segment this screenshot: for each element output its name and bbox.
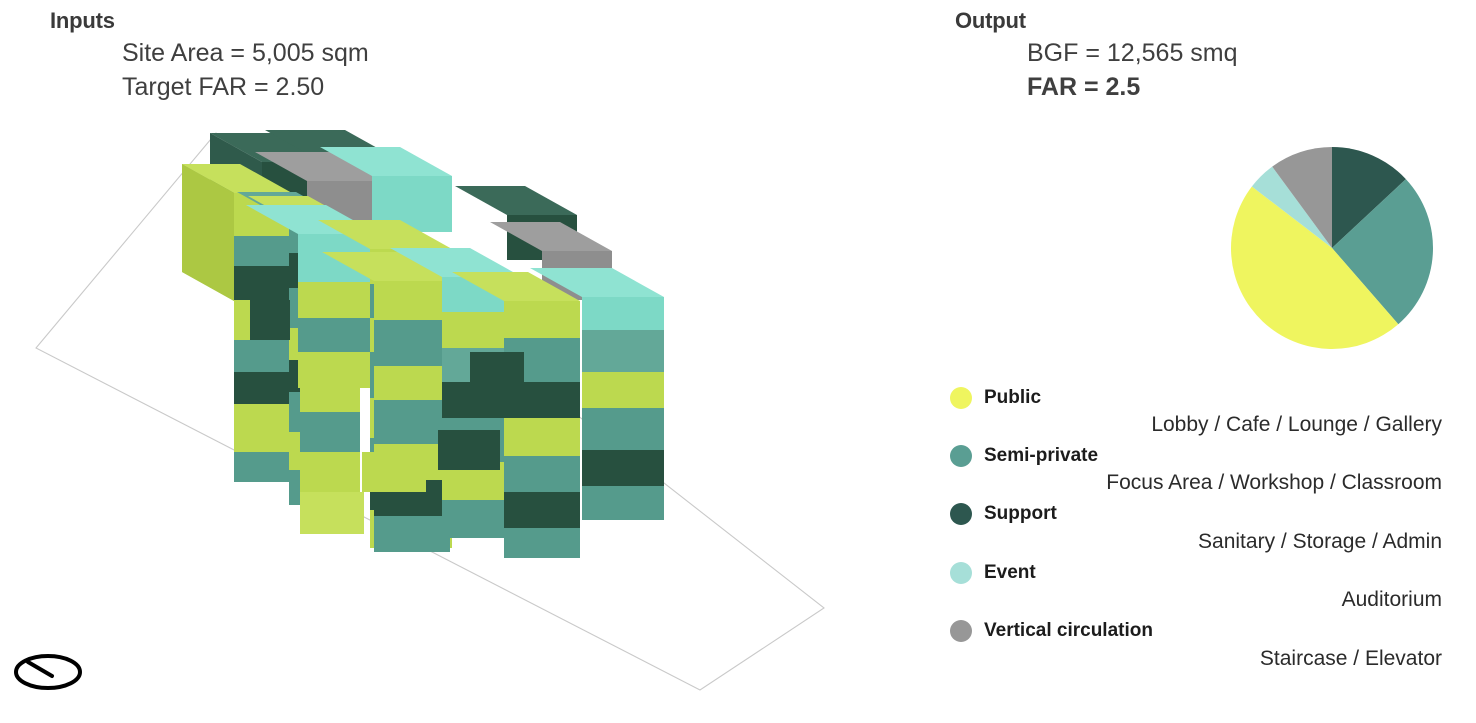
site-area-value: Site Area = 5,005 sqm xyxy=(122,37,369,71)
legend-swatch-event xyxy=(950,562,972,584)
legend-item-public[interactable]: Public Lobby / Cafe / Lounge / Gallery xyxy=(950,382,1450,440)
legend-sub-public: Lobby / Cafe / Lounge / Gallery xyxy=(950,410,1450,440)
program-distribution-pie-chart[interactable] xyxy=(1228,144,1436,352)
isometric-model[interactable] xyxy=(0,0,920,723)
legend-item-vertical-circulation[interactable]: Vertical circulation Staircase / Elevato… xyxy=(950,616,1450,674)
model-viewport[interactable] xyxy=(0,0,920,723)
inputs-panel: Inputs Site Area = 5,005 sqm Target FAR … xyxy=(50,8,369,104)
legend-label-public: Public xyxy=(984,387,1041,409)
pie-svg[interactable] xyxy=(1228,144,1436,352)
legend-sub-semi-private: Focus Area / Workshop / Classroom xyxy=(950,468,1450,498)
legend-sub-vertical-circulation: Staircase / Elevator xyxy=(950,644,1450,674)
bgf-value: BGF = 12,565 smq xyxy=(1027,37,1238,71)
legend-label-event: Event xyxy=(984,562,1036,584)
legend-label-semi-private: Semi-private xyxy=(984,445,1098,467)
far-value: FAR = 2.5 xyxy=(1027,71,1238,105)
legend-sub-event: Auditorium xyxy=(950,585,1450,615)
output-panel: Output BGF = 12,565 smq FAR = 2.5 xyxy=(955,8,1238,104)
target-far-value: Target FAR = 2.50 xyxy=(122,71,369,105)
program-legend: Public Lobby / Cafe / Lounge / Gallery S… xyxy=(950,382,1450,674)
legend-swatch-vertical-circulation xyxy=(950,620,972,642)
legend-sub-support: Sanitary / Storage / Admin xyxy=(950,527,1450,557)
inputs-title: Inputs xyxy=(50,8,369,33)
orbit-icon[interactable] xyxy=(12,650,84,694)
legend-label-vertical-circulation: Vertical circulation xyxy=(984,620,1153,642)
legend-swatch-semi-private xyxy=(950,445,972,467)
legend-swatch-public xyxy=(950,387,972,409)
legend-item-event[interactable]: Event Auditorium xyxy=(950,557,1450,615)
legend-swatch-support xyxy=(950,503,972,525)
output-title: Output xyxy=(955,8,1238,33)
massing-blocks xyxy=(182,130,664,558)
legend-item-semi-private[interactable]: Semi-private Focus Area / Workshop / Cla… xyxy=(950,440,1450,498)
legend-item-support[interactable]: Support Sanitary / Storage / Admin xyxy=(950,499,1450,557)
legend-label-support: Support xyxy=(984,503,1057,525)
